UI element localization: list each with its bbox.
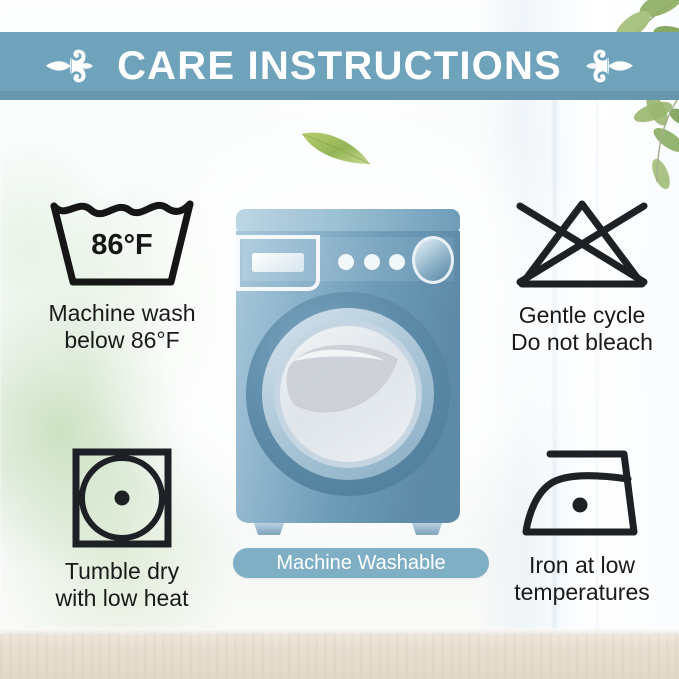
banner-bottom-shade	[0, 91, 679, 100]
machine-button-1[interactable]	[338, 254, 354, 270]
wooden-table-surface	[0, 634, 679, 679]
care-symbol-caption: Machine wash below 86°F	[14, 300, 230, 354]
dry-heat-dot	[115, 491, 130, 506]
tumble-dry-one-dot-icon	[70, 446, 174, 550]
machine-foot-left	[254, 523, 284, 535]
triangle-crossed-out-icon	[508, 196, 656, 292]
care-symbol-do-not-bleach: Gentle cycle Do not bleach	[492, 196, 672, 356]
leaf-icon	[298, 122, 374, 170]
fleur-de-lis-icon	[580, 44, 636, 88]
iron-one-dot-icon	[516, 446, 648, 542]
care-symbol-caption: Tumble dry with low heat	[14, 558, 230, 612]
wash-temperature-value: 86°F	[91, 229, 153, 261]
status-badge-label: Machine Washable	[276, 553, 445, 573]
machine-button-3[interactable]	[389, 254, 405, 270]
washing-machine-illustration	[232, 209, 464, 535]
care-symbol-machine-wash: 86°F Machine wash below 86°F	[14, 196, 230, 354]
care-symbol-caption: Gentle cycle Do not bleach	[492, 302, 672, 356]
care-symbol-iron-low: Iron at low temperatures	[492, 446, 672, 606]
detergent-drawer-handle	[252, 253, 304, 272]
machine-button-2[interactable]	[364, 254, 380, 270]
care-instructions-infographic: CARE INSTRUCTIONS 86°F Machine wash belo…	[0, 0, 679, 679]
care-symbol-caption: Iron at low temperatures	[492, 552, 672, 606]
fleur-de-lis-icon	[43, 44, 99, 88]
iron-heat-dot	[573, 498, 588, 513]
header-banner: CARE INSTRUCTIONS	[0, 32, 679, 100]
machine-dial-knob[interactable]	[415, 239, 451, 281]
page-title: CARE INSTRUCTIONS	[117, 46, 562, 86]
status-badge: Machine Washable	[233, 548, 489, 578]
care-symbol-tumble-dry-low: Tumble dry with low heat	[14, 446, 230, 612]
wash-tub-icon: 86°F	[47, 196, 197, 292]
machine-foot-right	[412, 523, 442, 535]
